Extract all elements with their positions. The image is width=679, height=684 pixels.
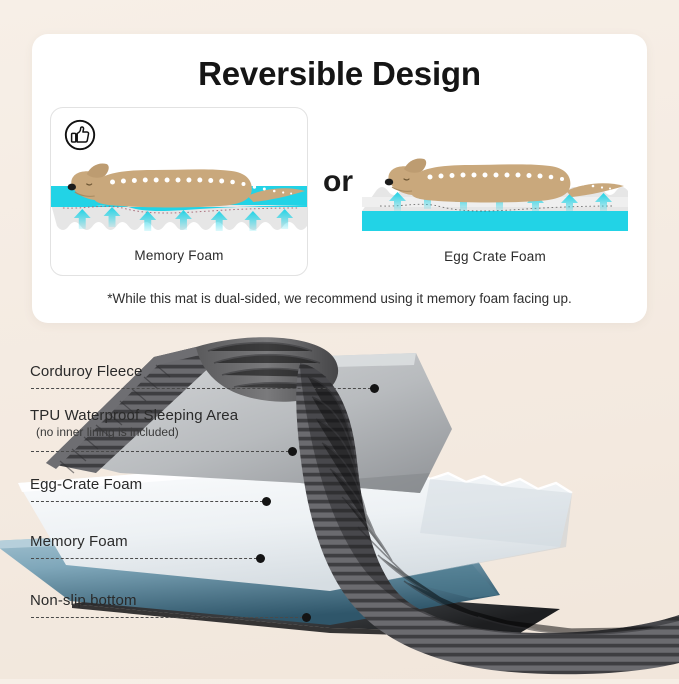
callout-list: Corduroy Fleece TPU Waterproof Sleeping … xyxy=(0,333,679,679)
product-exploded-view: Corduroy Fleece TPU Waterproof Sleeping … xyxy=(0,333,679,679)
panel-label-memory-foam: Memory Foam xyxy=(51,248,307,263)
leader-dot-egg-crate xyxy=(262,497,271,506)
thumbs-up-icon xyxy=(64,119,96,151)
leader-dot-corduroy xyxy=(370,384,379,393)
leader-dot-memory-foam xyxy=(256,554,265,563)
leader-dot-tpu xyxy=(288,447,297,456)
comparison-panels: Memory Foam or xyxy=(32,107,647,277)
egg-crate-foam-cross-section xyxy=(362,107,628,241)
leader-line-corduroy xyxy=(31,388,371,389)
footnote-text: *While this mat is dual-sided, we recomm… xyxy=(32,291,647,306)
panel-memory-foam: Memory Foam xyxy=(50,107,308,276)
panel-label-egg-crate-foam: Egg Crate Foam xyxy=(362,249,628,264)
reversible-design-card: Reversible Design xyxy=(32,34,647,323)
callout-non-slip-bottom: Non-slip bottom xyxy=(30,592,137,609)
or-divider: or xyxy=(315,165,361,199)
callout-memory-foam: Memory Foam xyxy=(30,533,128,550)
leader-line-egg-crate xyxy=(31,501,263,502)
callout-corduroy-fleece: Corduroy Fleece xyxy=(30,363,142,380)
leader-line-memory-foam xyxy=(31,558,257,559)
page-title: Reversible Design xyxy=(32,55,647,93)
leader-line-non-slip xyxy=(31,617,303,618)
leader-line-tpu xyxy=(31,451,289,452)
callout-egg-crate-foam: Egg-Crate Foam xyxy=(30,476,142,493)
panel-egg-crate-foam: Egg Crate Foam xyxy=(362,107,628,276)
callout-tpu-waterproof: TPU Waterproof Sleeping Area (no inner l… xyxy=(30,407,238,439)
leader-dot-non-slip xyxy=(302,613,311,622)
